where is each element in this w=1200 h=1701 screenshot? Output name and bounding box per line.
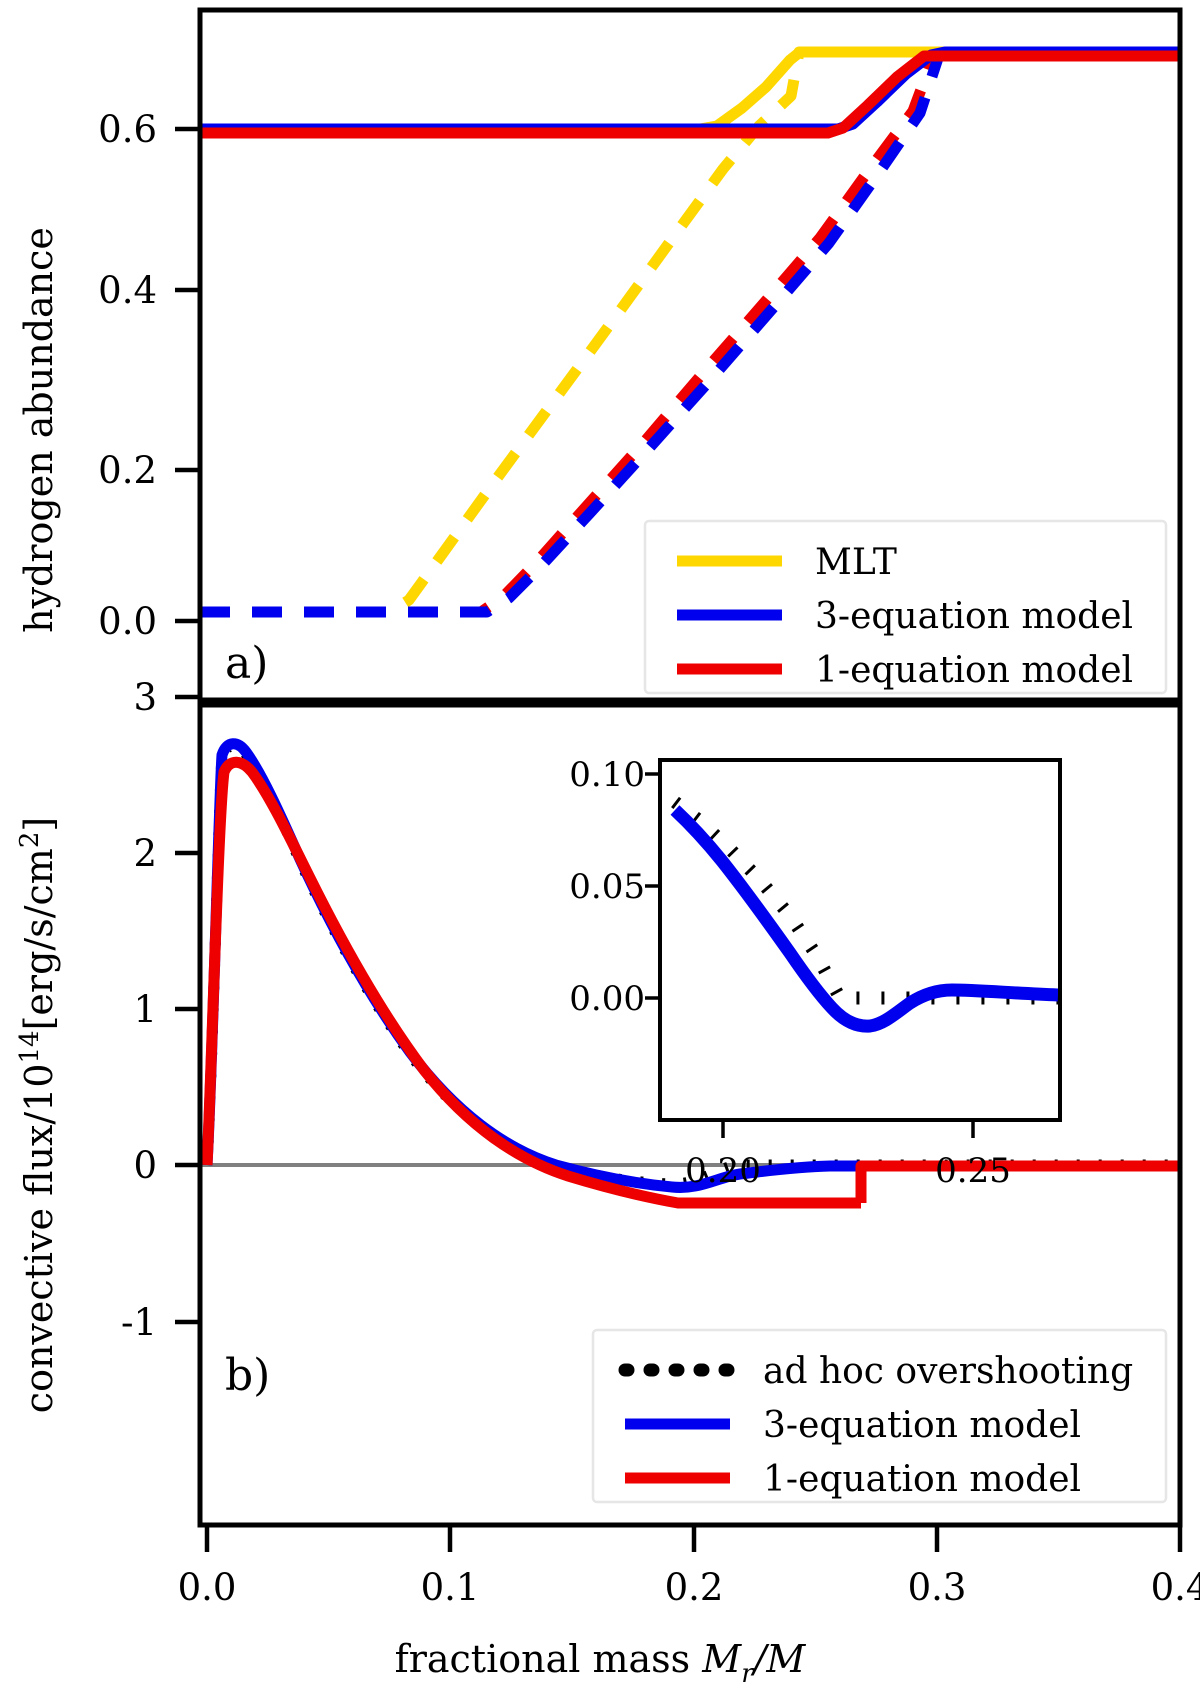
panel-a-tag: a) [225,638,268,689]
xtick-1: 0.1 [421,1566,480,1609]
legend-label-mlt: MLT [815,542,897,583]
panel-b-ylabel-unit: [erg/s/cm [17,848,61,1030]
panel-a-ytick-3: 0.6 [98,108,157,151]
inset-ytick-010: 0.10 [569,755,645,795]
inset-xtick-020: 0.20 [685,1151,761,1191]
inset-xtick-025: 0.25 [935,1151,1011,1191]
svg-text:convective flux/1014[erg/s/cm2: convective flux/1014[erg/s/cm2] [15,817,61,1413]
figure-root: hydrogen abundance 0.0 0.2 0.4 0.6 [0,0,1200,1701]
panel-b-tag: b) [225,1350,270,1401]
legend-label-3eq-b: 3-equation model [763,1405,1081,1446]
panel-a-ytick-0: 0.0 [98,600,157,643]
xaxis-title-den: /M [750,1637,807,1681]
panel-b-ytick-m1: -1 [121,1301,157,1344]
panel-b-ylabel-main: convective flux/10 [17,1063,61,1413]
panel-b-ytick-3: 3 [133,676,157,719]
panel-a-ylabel: hydrogen abundance [17,227,61,633]
panel-b-ylabel-unit-close: ] [17,817,61,832]
panel-a-ytick-2: 0.4 [98,269,157,312]
panel-b-ytick-0: 0 [133,1144,157,1187]
panel-b-ylabel-unit-exp: 2 [15,832,45,849]
panel-b-ytick-2: 2 [133,832,157,875]
panel-b-ylabel: convective flux/1014[erg/s/cm2] [15,817,61,1413]
legend-label-adhoc: ad hoc overshooting [763,1351,1133,1392]
xtick-0: 0.0 [178,1566,237,1609]
xtick-3: 0.3 [908,1566,967,1609]
panel-b-legend: ad hoc overshooting 3-equation model 1-e… [593,1330,1166,1502]
xaxis-title-M: M [701,1637,742,1681]
figure-canvas: hydrogen abundance 0.0 0.2 0.4 0.6 [0,0,1200,1701]
panel-a-legend: MLT 3-equation model 1-equation model [645,521,1166,693]
xtick-4: 0.4 [1151,1566,1200,1609]
panel-b-ylabel-exp: 14 [15,1030,45,1063]
xtick-2: 0.2 [665,1566,724,1609]
legend-label-1eq-a: 1-equation model [815,650,1133,691]
panel-a-ytick-1: 0.2 [98,449,157,492]
inset-ytick-005: 0.05 [569,867,645,907]
legend-label-1eq-b: 1-equation model [763,1459,1081,1500]
inset-ytick-000: 0.00 [569,979,645,1019]
xaxis-title-plain: fractional mass [395,1637,691,1681]
inset-frame [660,760,1060,1120]
legend-label-3eq-a: 3-equation model [815,596,1133,637]
panel-b-ytick-1: 1 [133,988,157,1031]
